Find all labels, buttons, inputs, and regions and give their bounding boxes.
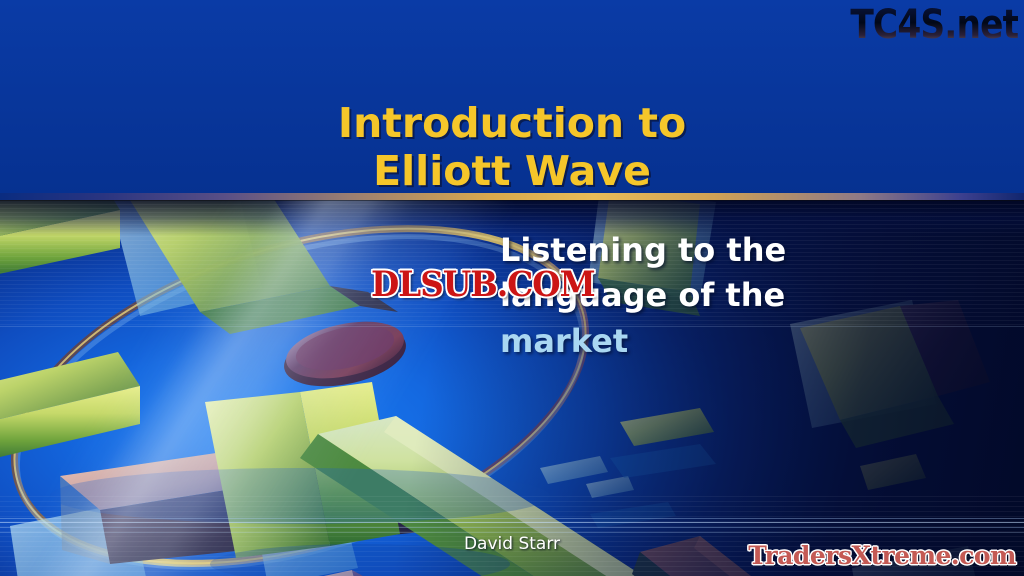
accent-rule bbox=[0, 527, 1024, 528]
accent-rule bbox=[0, 518, 1024, 519]
subtitle-line-3: market bbox=[500, 319, 920, 364]
watermark-dlsub: DLSUB.COM bbox=[371, 264, 595, 305]
presentation-slide: Introduction to Elliott Wave Listening t… bbox=[0, 0, 1024, 576]
accent-rule bbox=[0, 532, 1024, 533]
accent-rule bbox=[0, 522, 1024, 523]
watermark-tc4s: TC4S.net bbox=[850, 2, 1018, 48]
title-line-2: Elliott Wave bbox=[0, 148, 1024, 196]
watermark-tradersxtreme: TradersXtreme.com bbox=[748, 541, 1016, 570]
title-line-1: Introduction to bbox=[338, 99, 686, 147]
slide-title: Introduction to Elliott Wave bbox=[0, 100, 1024, 196]
